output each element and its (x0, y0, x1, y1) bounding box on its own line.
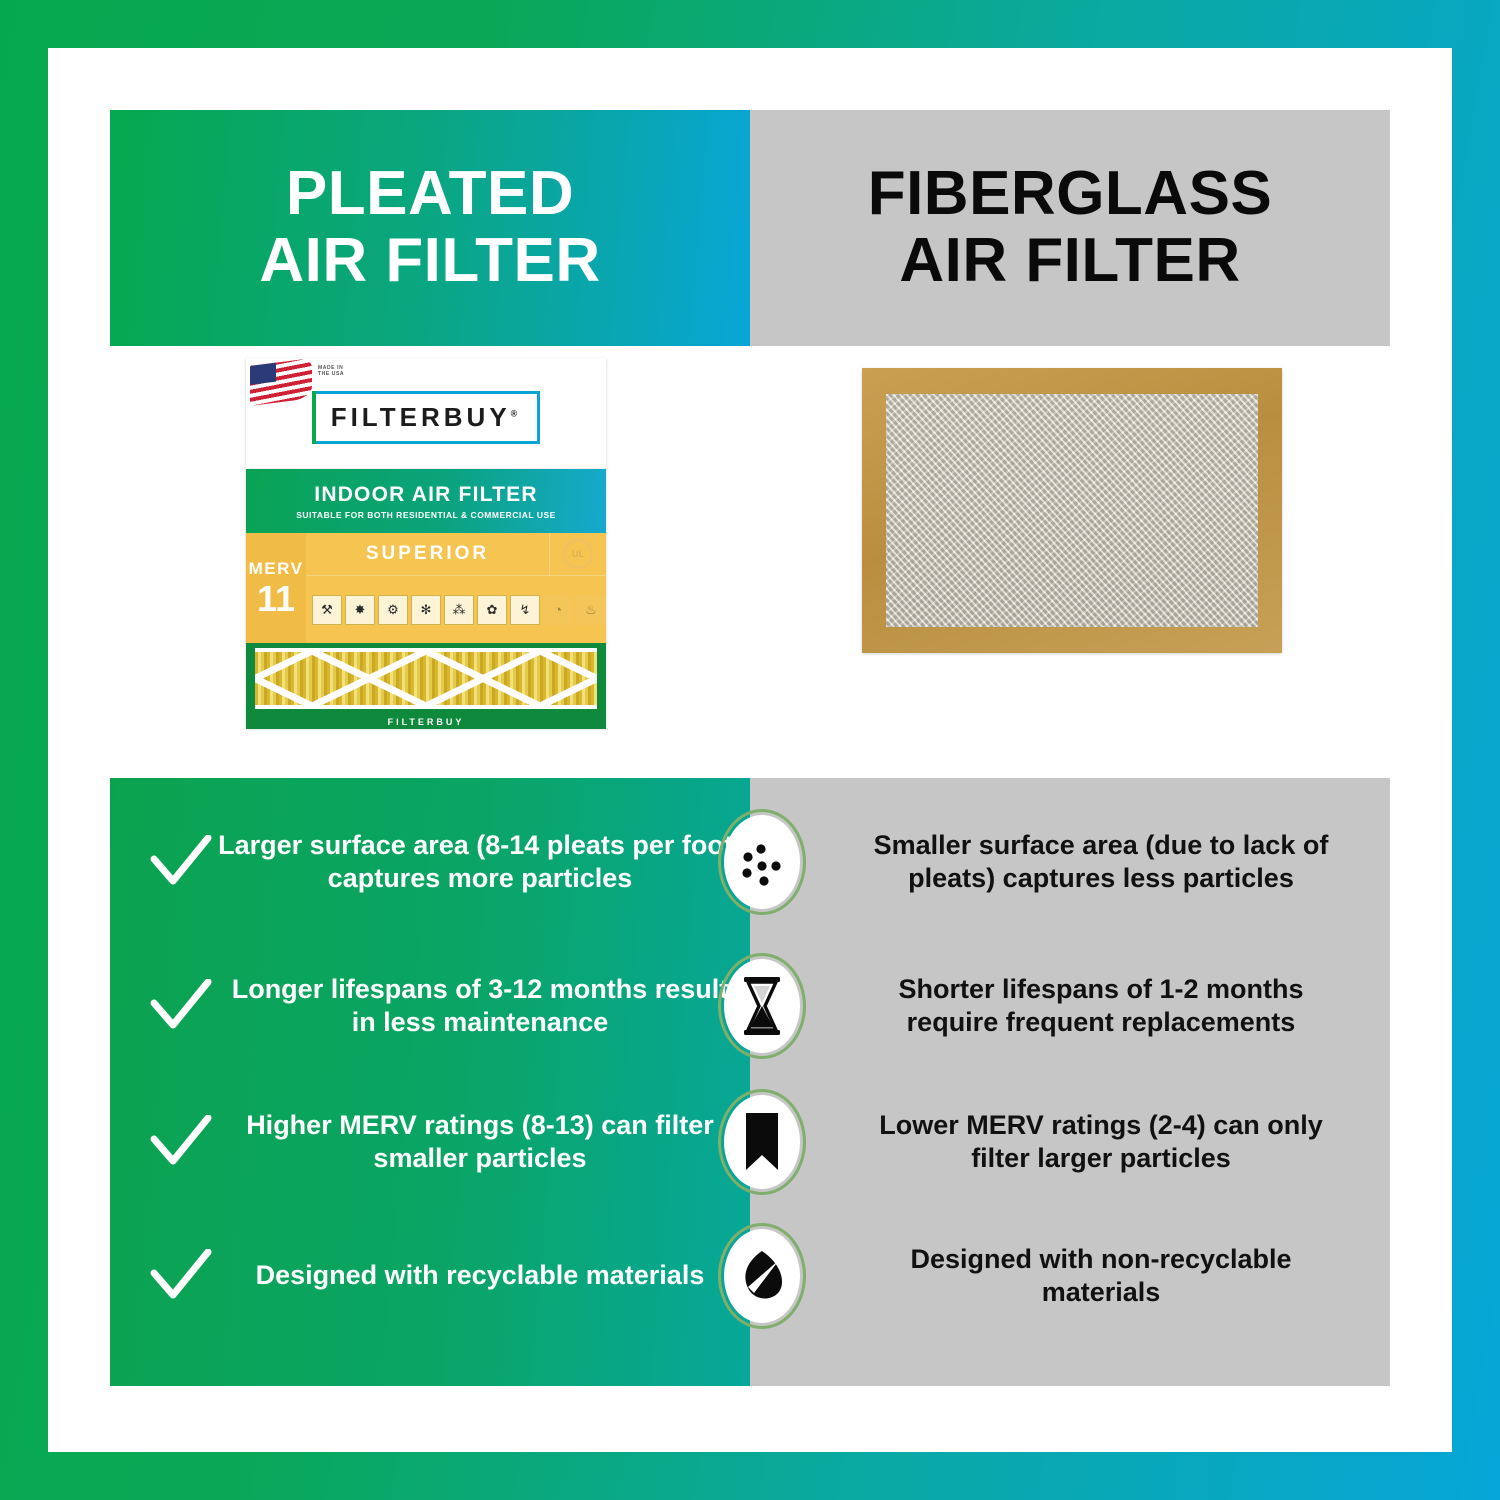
comparison-badge (716, 1087, 808, 1197)
checkmark-icon (144, 1249, 218, 1303)
dust-icon: ⚒ (312, 595, 342, 625)
spores-icon: ✻ (411, 595, 441, 625)
package-spec-right: SUPERIOR UL ⚒✸⚙✻⁂✿↯◔♨ (306, 533, 606, 643)
comparison-right-text: Shorter lifespans of 1-2 months require … (750, 973, 1390, 1040)
hourglass-icon (724, 959, 800, 1053)
fiberglass-product-cell (750, 346, 1390, 778)
pill-icon-faded: ◔ (543, 595, 573, 625)
fiberglass-filter-image (862, 368, 1282, 653)
bookmark-icon (724, 1095, 800, 1189)
comparison-left-cell: Longer lifespans of 3-12 months result i… (110, 973, 750, 1040)
particles-icon (724, 815, 800, 909)
comparison-row: Designed with recyclable materialsDesign… (110, 1210, 1390, 1342)
gradient-frame: PLEATED AIR FILTER FIBERGLASS AIR FILTER… (0, 0, 1500, 1500)
merv-block: MERV 11 (246, 533, 306, 643)
header-band: PLEATED AIR FILTER FIBERGLASS AIR FILTER (110, 110, 1390, 346)
header-pleated-line1: PLEATED (259, 161, 600, 228)
comparison-right-text: Smaller surface area (due to lack of ple… (750, 829, 1390, 896)
brand-name: FILTERBUY® (331, 402, 522, 433)
fiberglass-media (886, 394, 1258, 627)
comparison-left-text: Designed with recyclable materials (218, 1259, 750, 1292)
package-banner: INDOOR AIR FILTER SUITABLE FOR BOTH RESI… (246, 469, 606, 533)
infographic-stage: PLEATED AIR FILTER FIBERGLASS AIR FILTER… (110, 110, 1390, 1386)
capture-icons-row: ⚒✸⚙✻⁂✿↯◔♨ (306, 576, 606, 643)
package-banner-subtitle: SUITABLE FOR BOTH RESIDENTIAL & COMMERCI… (296, 510, 556, 520)
brand-logo-box: FILTERBUY® (312, 391, 541, 444)
comparison-badge (716, 807, 808, 917)
comparison-left-cell: Larger surface area (8-14 pleats per foo… (110, 829, 750, 896)
tier-row: SUPERIOR UL (306, 533, 606, 576)
checkmark-icon (144, 1115, 218, 1169)
package-spec-area: MERV 11 SUPERIOR UL ⚒✸⚙✻⁂✿↯◔♨ (246, 533, 606, 643)
comparison-row: Higher MERV ratings (8-13) can filter sm… (110, 1078, 1390, 1206)
comparison-badge (716, 951, 808, 1061)
header-fiberglass-line2: AIR FILTER (868, 228, 1273, 295)
ul-listed-icon: UL (563, 539, 593, 569)
filterbuy-package: MADE INTHE USA FILTERBUY® INDOOR AIR FIL… (246, 358, 606, 728)
header-fiberglass-title: FIBERGLASS AIR FILTER (868, 161, 1273, 295)
insect-icon: ✸ (345, 595, 375, 625)
comparison-left-text: Longer lifespans of 3-12 months result i… (218, 973, 750, 1040)
header-pleated: PLEATED AIR FILTER (110, 110, 750, 346)
pollen-icon: ⚙ (378, 595, 408, 625)
comparison-right-text: Designed with non-recyclable materials (750, 1243, 1390, 1310)
header-pleated-line2: AIR FILTER (259, 228, 600, 295)
comparison-section: Larger surface area (8-14 pleats per foo… (110, 778, 1390, 1386)
comparison-right-text: Lower MERV ratings (2-4) can only filter… (750, 1109, 1390, 1176)
ul-certification-area: UL (549, 533, 606, 575)
merv-label: MERV (249, 559, 304, 579)
pleated-product-cell: MADE INTHE USA FILTERBUY® INDOOR AIR FIL… (110, 346, 750, 778)
virus-icon-faded: ♨ (576, 595, 606, 625)
pet-dander-icon: ✿ (477, 595, 507, 625)
comparison-row: Larger surface area (8-14 pleats per foo… (110, 788, 1390, 936)
header-fiberglass-line1: FIBERGLASS (868, 161, 1273, 228)
comparison-row: Longer lifespans of 3-12 months result i… (110, 940, 1390, 1072)
comparison-left-cell: Higher MERV ratings (8-13) can filter sm… (110, 1109, 750, 1176)
leaf-icon (724, 1229, 800, 1323)
package-banner-title: INDOOR AIR FILTER (314, 483, 537, 507)
comparison-left-cell: Designed with recyclable materials (110, 1249, 750, 1303)
usa-flag-icon (250, 358, 312, 406)
merv-value: 11 (257, 581, 295, 617)
pleated-media-window: FILTERBUY (246, 643, 606, 729)
brand-trademark: ® (511, 408, 522, 418)
comparison-badge (716, 1221, 808, 1331)
bacteria-icon: ⁂ (444, 595, 474, 625)
product-image-band: MADE INTHE USA FILTERBUY® INDOOR AIR FIL… (110, 346, 1390, 778)
checkmark-icon (144, 979, 218, 1033)
diamond-mesh-overlay (255, 648, 597, 709)
tier-label: SUPERIOR (306, 543, 549, 565)
comparison-left-text: Larger surface area (8-14 pleats per foo… (218, 829, 750, 896)
smoke-icon: ↯ (510, 595, 540, 625)
header-pleated-title: PLEATED AIR FILTER (259, 161, 600, 295)
comparison-left-text: Higher MERV ratings (8-13) can filter sm… (218, 1109, 750, 1176)
header-fiberglass: FIBERGLASS AIR FILTER (750, 110, 1390, 346)
made-in-usa-label: MADE INTHE USA (318, 365, 344, 378)
checkmark-icon (144, 835, 218, 889)
package-footer-brand: FILTERBUY (246, 717, 606, 727)
package-brand-area: MADE INTHE USA FILTERBUY® (246, 358, 606, 469)
